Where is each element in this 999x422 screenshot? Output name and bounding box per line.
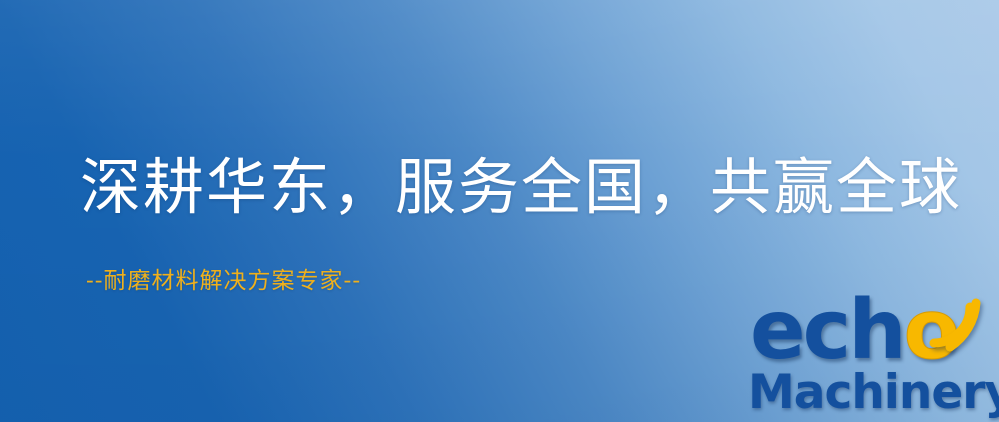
logo-echo-prefix: ech [750,283,904,378]
logo-tagline-row: Machinery ® [748,368,999,418]
signal-waves-icon [920,293,982,353]
banner-subtitle: --耐磨材料解决方案专家-- [86,266,361,296]
promo-banner: 深耕华东，服务全国，共赢全球 --耐磨材料解决方案专家-- echo Machi… [0,0,999,422]
logo-wordmark: echo [748,296,999,370]
banner-headline: 深耕华东，服务全国，共赢全球 [80,152,962,224]
logo-machinery-text: Machinery [748,368,999,418]
company-logo: echo Machinery ® [748,296,999,422]
